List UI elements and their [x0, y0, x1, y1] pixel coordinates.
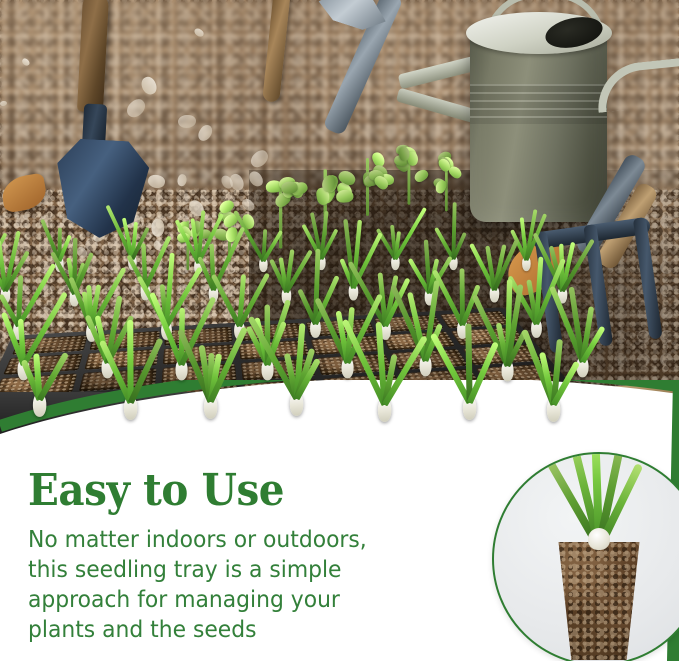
banner-description-line: approach for managing your: [28, 584, 428, 614]
plug-bulb-icon: [588, 528, 610, 550]
page-title: Easy to Use: [28, 468, 424, 514]
banner-copy: Easy to Use No matter indoors or outdoor…: [28, 468, 458, 644]
marketing-banner: Easy to Use No matter indoors or outdoor…: [0, 0, 679, 661]
banner-description-line: this seedling tray is a simple: [28, 554, 428, 584]
banner-description-line: plants and the seeds: [28, 614, 428, 644]
banner-description: No matter indoors or outdoors,this seedl…: [28, 524, 428, 644]
banner-description-line: No matter indoors or outdoors,: [28, 524, 428, 554]
soil-plug-icon: [553, 542, 645, 660]
